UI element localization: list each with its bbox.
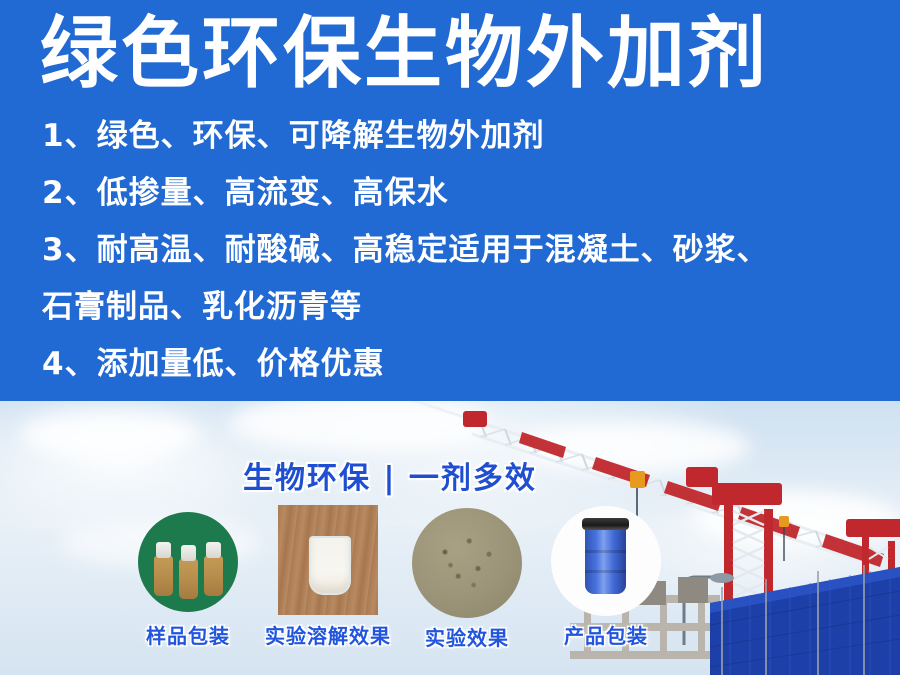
- thumbnail-caption: 实验溶解效果: [265, 620, 391, 649]
- bottle-cap-icon: [206, 542, 221, 558]
- bottle-cap-icon: [156, 542, 171, 558]
- product-thumbnail-row: 样品包装 实验溶解效果 实验效果: [0, 0, 900, 675]
- thumbnail-caption: 产品包装: [564, 620, 648, 649]
- dissolution-test-photo: [278, 505, 378, 615]
- bottle-icon: [204, 556, 223, 596]
- thumbnail-experiment-result[interactable]: 实验效果: [412, 508, 522, 648]
- thumbnail-dissolution-test[interactable]: 实验溶解效果: [278, 505, 378, 645]
- drum-band: [585, 550, 626, 553]
- thumbnail-caption: 实验效果: [425, 622, 509, 651]
- powder-sample-icon: [412, 508, 522, 618]
- glass-of-solution-icon: [309, 536, 351, 595]
- drum-band: [585, 570, 626, 573]
- bottle-icon: [179, 559, 198, 599]
- sample-bottles-photo: [138, 512, 238, 612]
- thumbnail-sample-packaging[interactable]: 样品包装: [138, 512, 238, 652]
- thumbnail-product-packaging[interactable]: 产品包装: [551, 506, 661, 646]
- promo-poster: 绿色环保生物外加剂 1、绿色、环保、可降解生物外加剂 2、低掺量、高流变、高保水…: [0, 0, 900, 675]
- bottle-cap-icon: [181, 545, 196, 561]
- blue-drum-icon: [585, 524, 626, 594]
- bottle-icon: [154, 556, 173, 596]
- thumbnail-caption: 样品包装: [146, 620, 230, 649]
- powder-result-photo: [412, 508, 522, 618]
- drum-rim-icon: [582, 518, 629, 530]
- blue-drum-photo: [551, 506, 661, 616]
